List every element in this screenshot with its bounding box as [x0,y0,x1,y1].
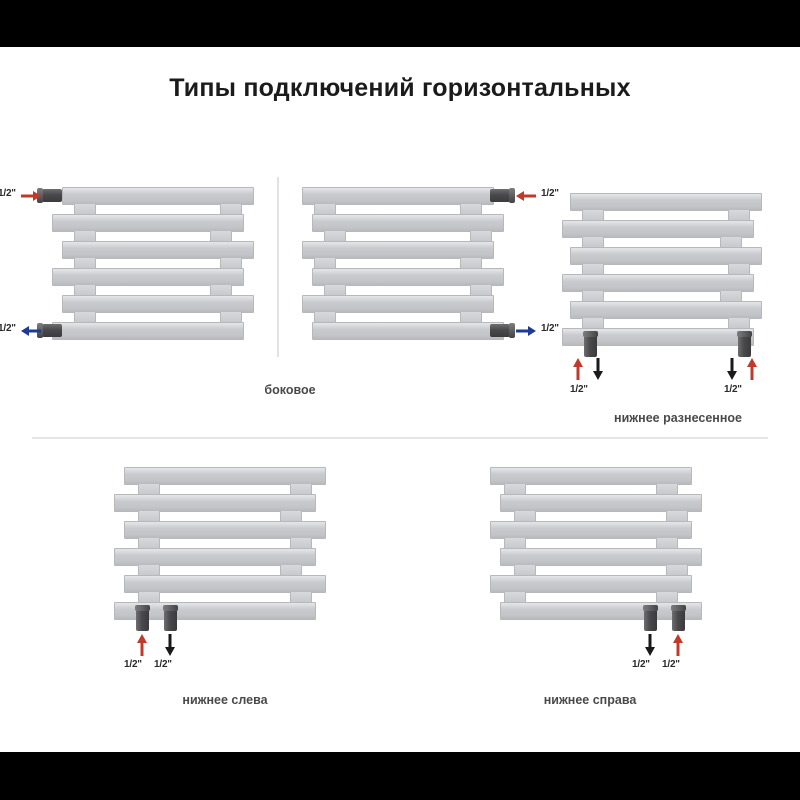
radiator-slat [312,322,504,340]
radiator-slat [490,575,692,593]
pipe-size-label: 1/2" [570,384,588,395]
pipe-size-label: 1/2" [0,188,16,199]
pipe-fitting-supply [672,609,685,631]
radiator-slat [52,322,244,340]
radiator-slat [302,241,494,259]
radiator-slat [570,193,762,211]
radiator-slat [124,521,326,539]
pipe-size-label: 1/2" [0,323,16,334]
radiator-slat [312,214,504,232]
pipe-fitting-supply [136,609,149,631]
pipe-fitting-return [644,609,657,631]
pipe-size-label: 1/2" [632,659,650,670]
flow-arrow-return [164,633,176,657]
pipe-fitting-supply [42,189,62,202]
pipe-fitting-supply [584,335,597,357]
page-title: Типы подключений горизонтальных [0,74,800,103]
pipe-size-label: 1/2" [124,659,142,670]
radiator-slat [114,494,316,512]
pipe-size-label: 1/2" [662,659,680,670]
flow-arrow-return [515,325,537,337]
flow-arrow-return [726,357,738,381]
letterbox-bottom [0,752,800,800]
flow-arrow-supply [515,190,537,202]
radiator-slat [312,268,504,286]
radiator-slat [124,467,326,485]
pipe-size-label: 1/2" [541,188,559,199]
pipe-fitting-return [738,335,751,357]
radiator-slat [500,494,702,512]
flow-arrow-supply [746,357,758,381]
radiator-slat [62,241,254,259]
radiator-side-left [62,187,254,327]
caption-side: боковое [200,383,380,397]
radiator-slat [114,548,316,566]
pipe-size-label: 1/2" [541,323,559,334]
vertical-divider [277,177,279,357]
pipe-size-label: 1/2" [724,384,742,395]
horizontal-divider [32,437,768,439]
caption-bottom-left: нижнее слева [135,693,315,707]
radiator-slat [570,301,762,319]
radiator-slat [570,247,762,265]
flow-arrow-supply [20,190,42,202]
radiator-slat [52,214,244,232]
caption-bottom-right: нижнее справа [490,693,690,707]
pipe-fitting-return [164,609,177,631]
radiator-slat [562,220,754,238]
radiator-bottom-spread [570,193,762,333]
diagram-canvas: Типы подключений горизонтальных 1/2" [0,47,800,752]
flow-arrow-return [644,633,656,657]
flow-arrow-return [592,357,604,381]
radiator-slat [500,548,702,566]
flow-arrow-supply [136,633,148,657]
pipe-fitting-return [42,324,62,337]
pipe-fitting-return [490,324,510,337]
radiator-slat [562,274,754,292]
radiator-slat [62,295,254,313]
flow-arrow-supply [672,633,684,657]
radiator-bottom-left [124,467,326,607]
pipe-size-label: 1/2" [154,659,172,670]
radiator-side-right [302,187,494,327]
radiator-slat [52,268,244,286]
radiator-slat [490,521,692,539]
letterbox-top [0,0,800,47]
radiator-slat [302,187,494,205]
flow-arrow-return [20,325,42,337]
radiator-slat [302,295,494,313]
radiator-slat [490,467,692,485]
radiator-bottom-right [490,467,692,607]
pipe-fitting-supply [490,189,510,202]
radiator-slat [62,187,254,205]
flow-arrow-supply [572,357,584,381]
radiator-slat [124,575,326,593]
caption-bottom-spread: нижнее разнесенное [556,411,800,425]
